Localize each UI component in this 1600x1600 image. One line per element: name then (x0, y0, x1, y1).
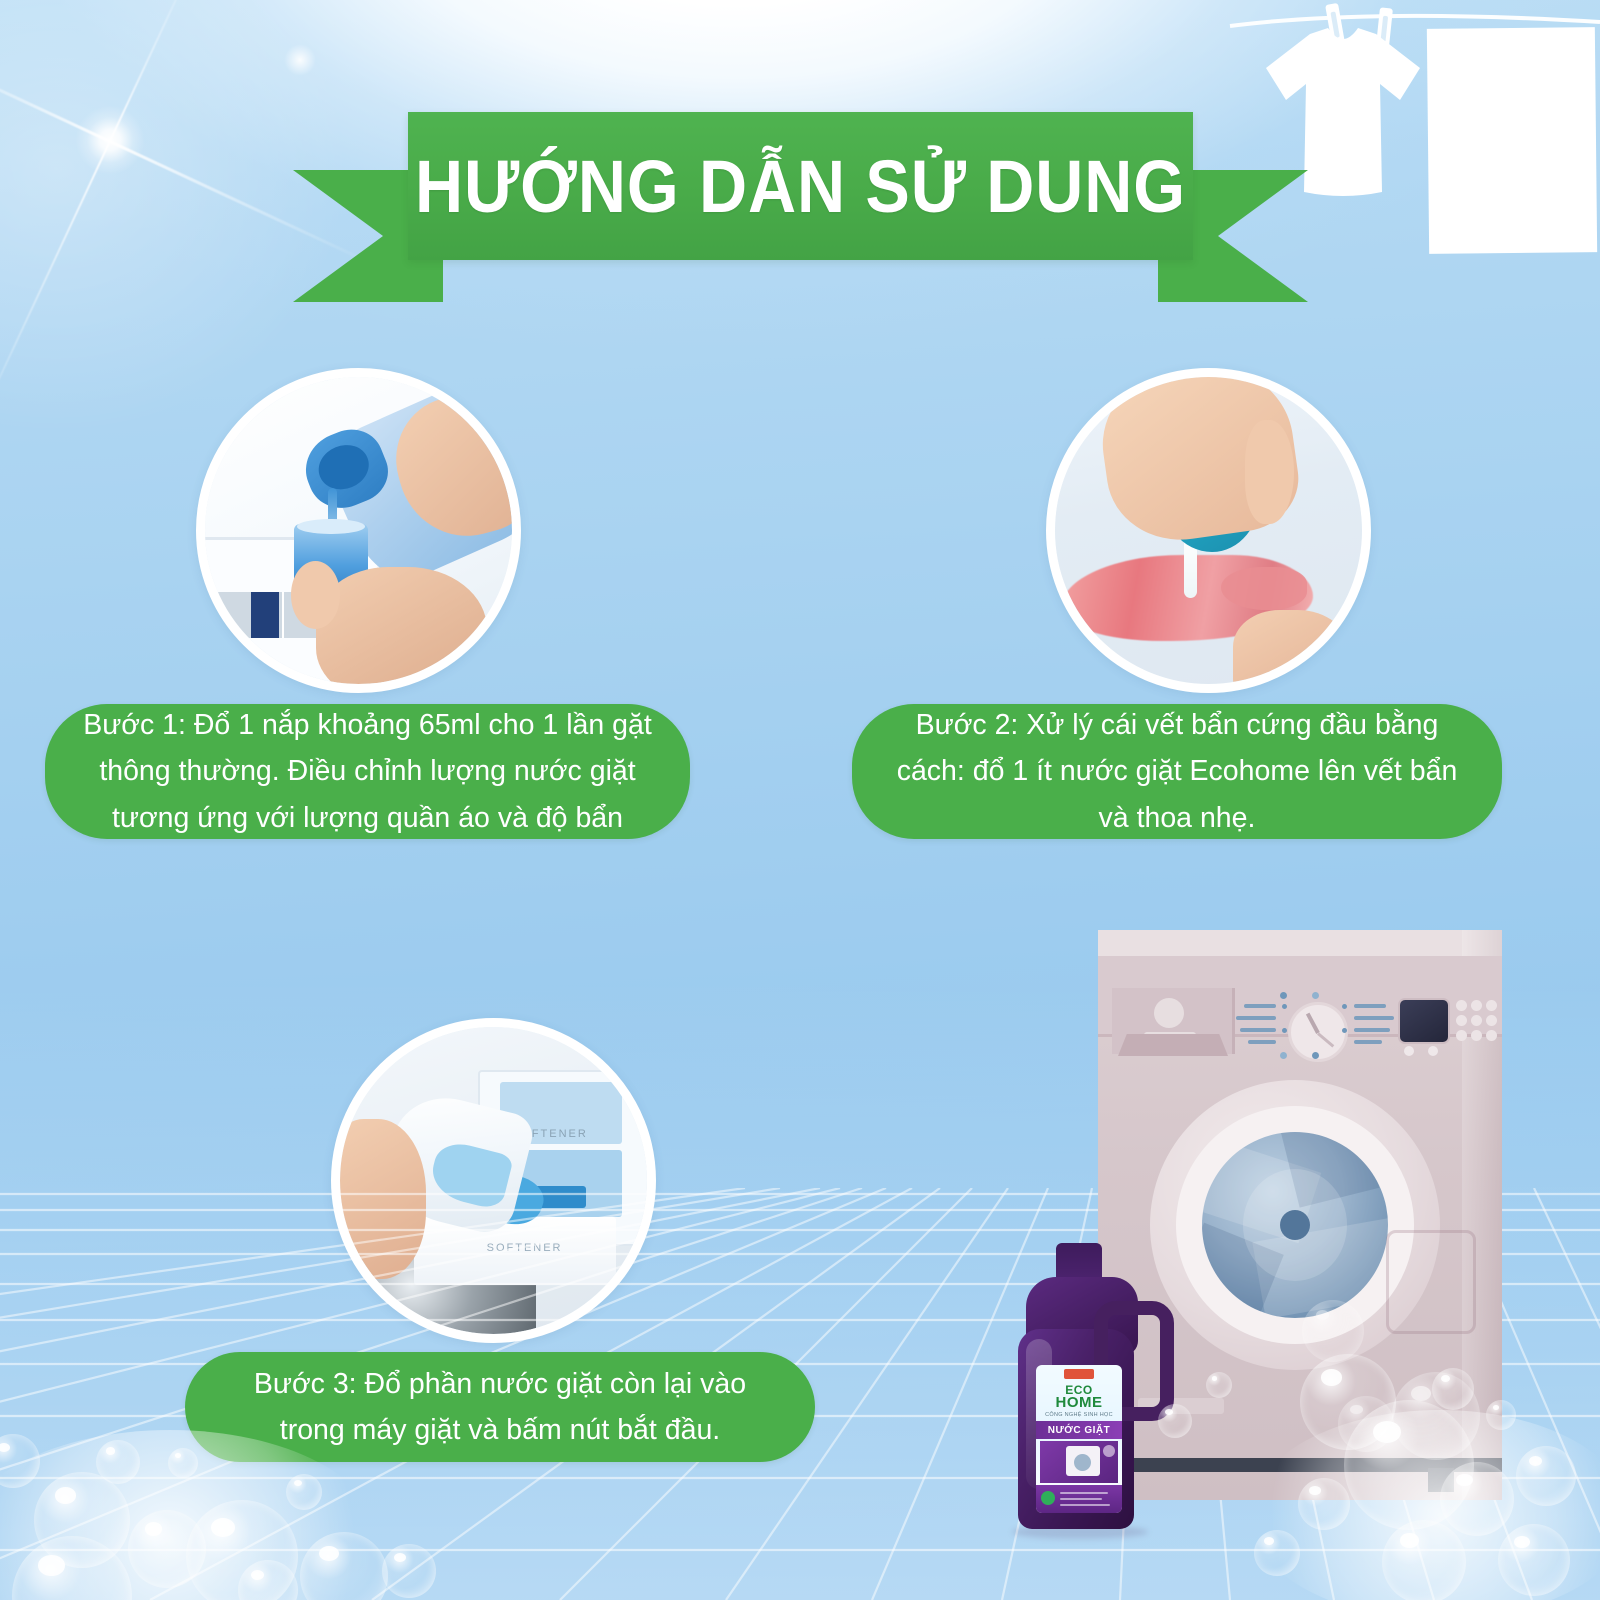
product-type-text: NƯỚC GIẶT (1036, 1421, 1122, 1439)
display-screen (1398, 998, 1450, 1044)
star-flare-small-icon (300, 60, 301, 61)
title-ribbon: HƯỚNG DẪN SỬ DUNG (293, 112, 1308, 302)
detergent-bottle: ECO HOME CÔNG NGHỆ SINH HỌC NƯỚC GIẶT (1012, 1243, 1148, 1533)
brand-home-text: HOME (1036, 1394, 1122, 1411)
step-2-callout: Bước 2: Xử lý cái vết bẩn cứng đầu bằng … (852, 704, 1502, 839)
star-flare-icon (110, 140, 112, 142)
infographic-canvas: HƯỚNG DẪN SỬ DUNG (0, 0, 1600, 1600)
drum-window (1202, 1132, 1388, 1318)
page-title: HƯỚNG DẪN SỬ DUNG (447, 112, 1154, 260)
step-1-callout: Bước 1: Đổ 1 nắp khoảng 65ml cho 1 lần g… (45, 704, 690, 839)
step-1-photo (196, 368, 521, 693)
button-grid (1456, 1000, 1496, 1040)
product-label: ECO HOME CÔNG NGHỆ SINH HỌC NƯỚC GIẶT (1036, 1365, 1122, 1513)
sheet-icon (1427, 27, 1597, 254)
ribbon-band: HƯỚNG DẪN SỬ DUNG (408, 112, 1193, 260)
control-panel (1098, 956, 1502, 1037)
step-2-photo (1046, 368, 1371, 693)
brand-tagline: CÔNG NGHỆ SINH HỌC (1036, 1412, 1122, 1418)
